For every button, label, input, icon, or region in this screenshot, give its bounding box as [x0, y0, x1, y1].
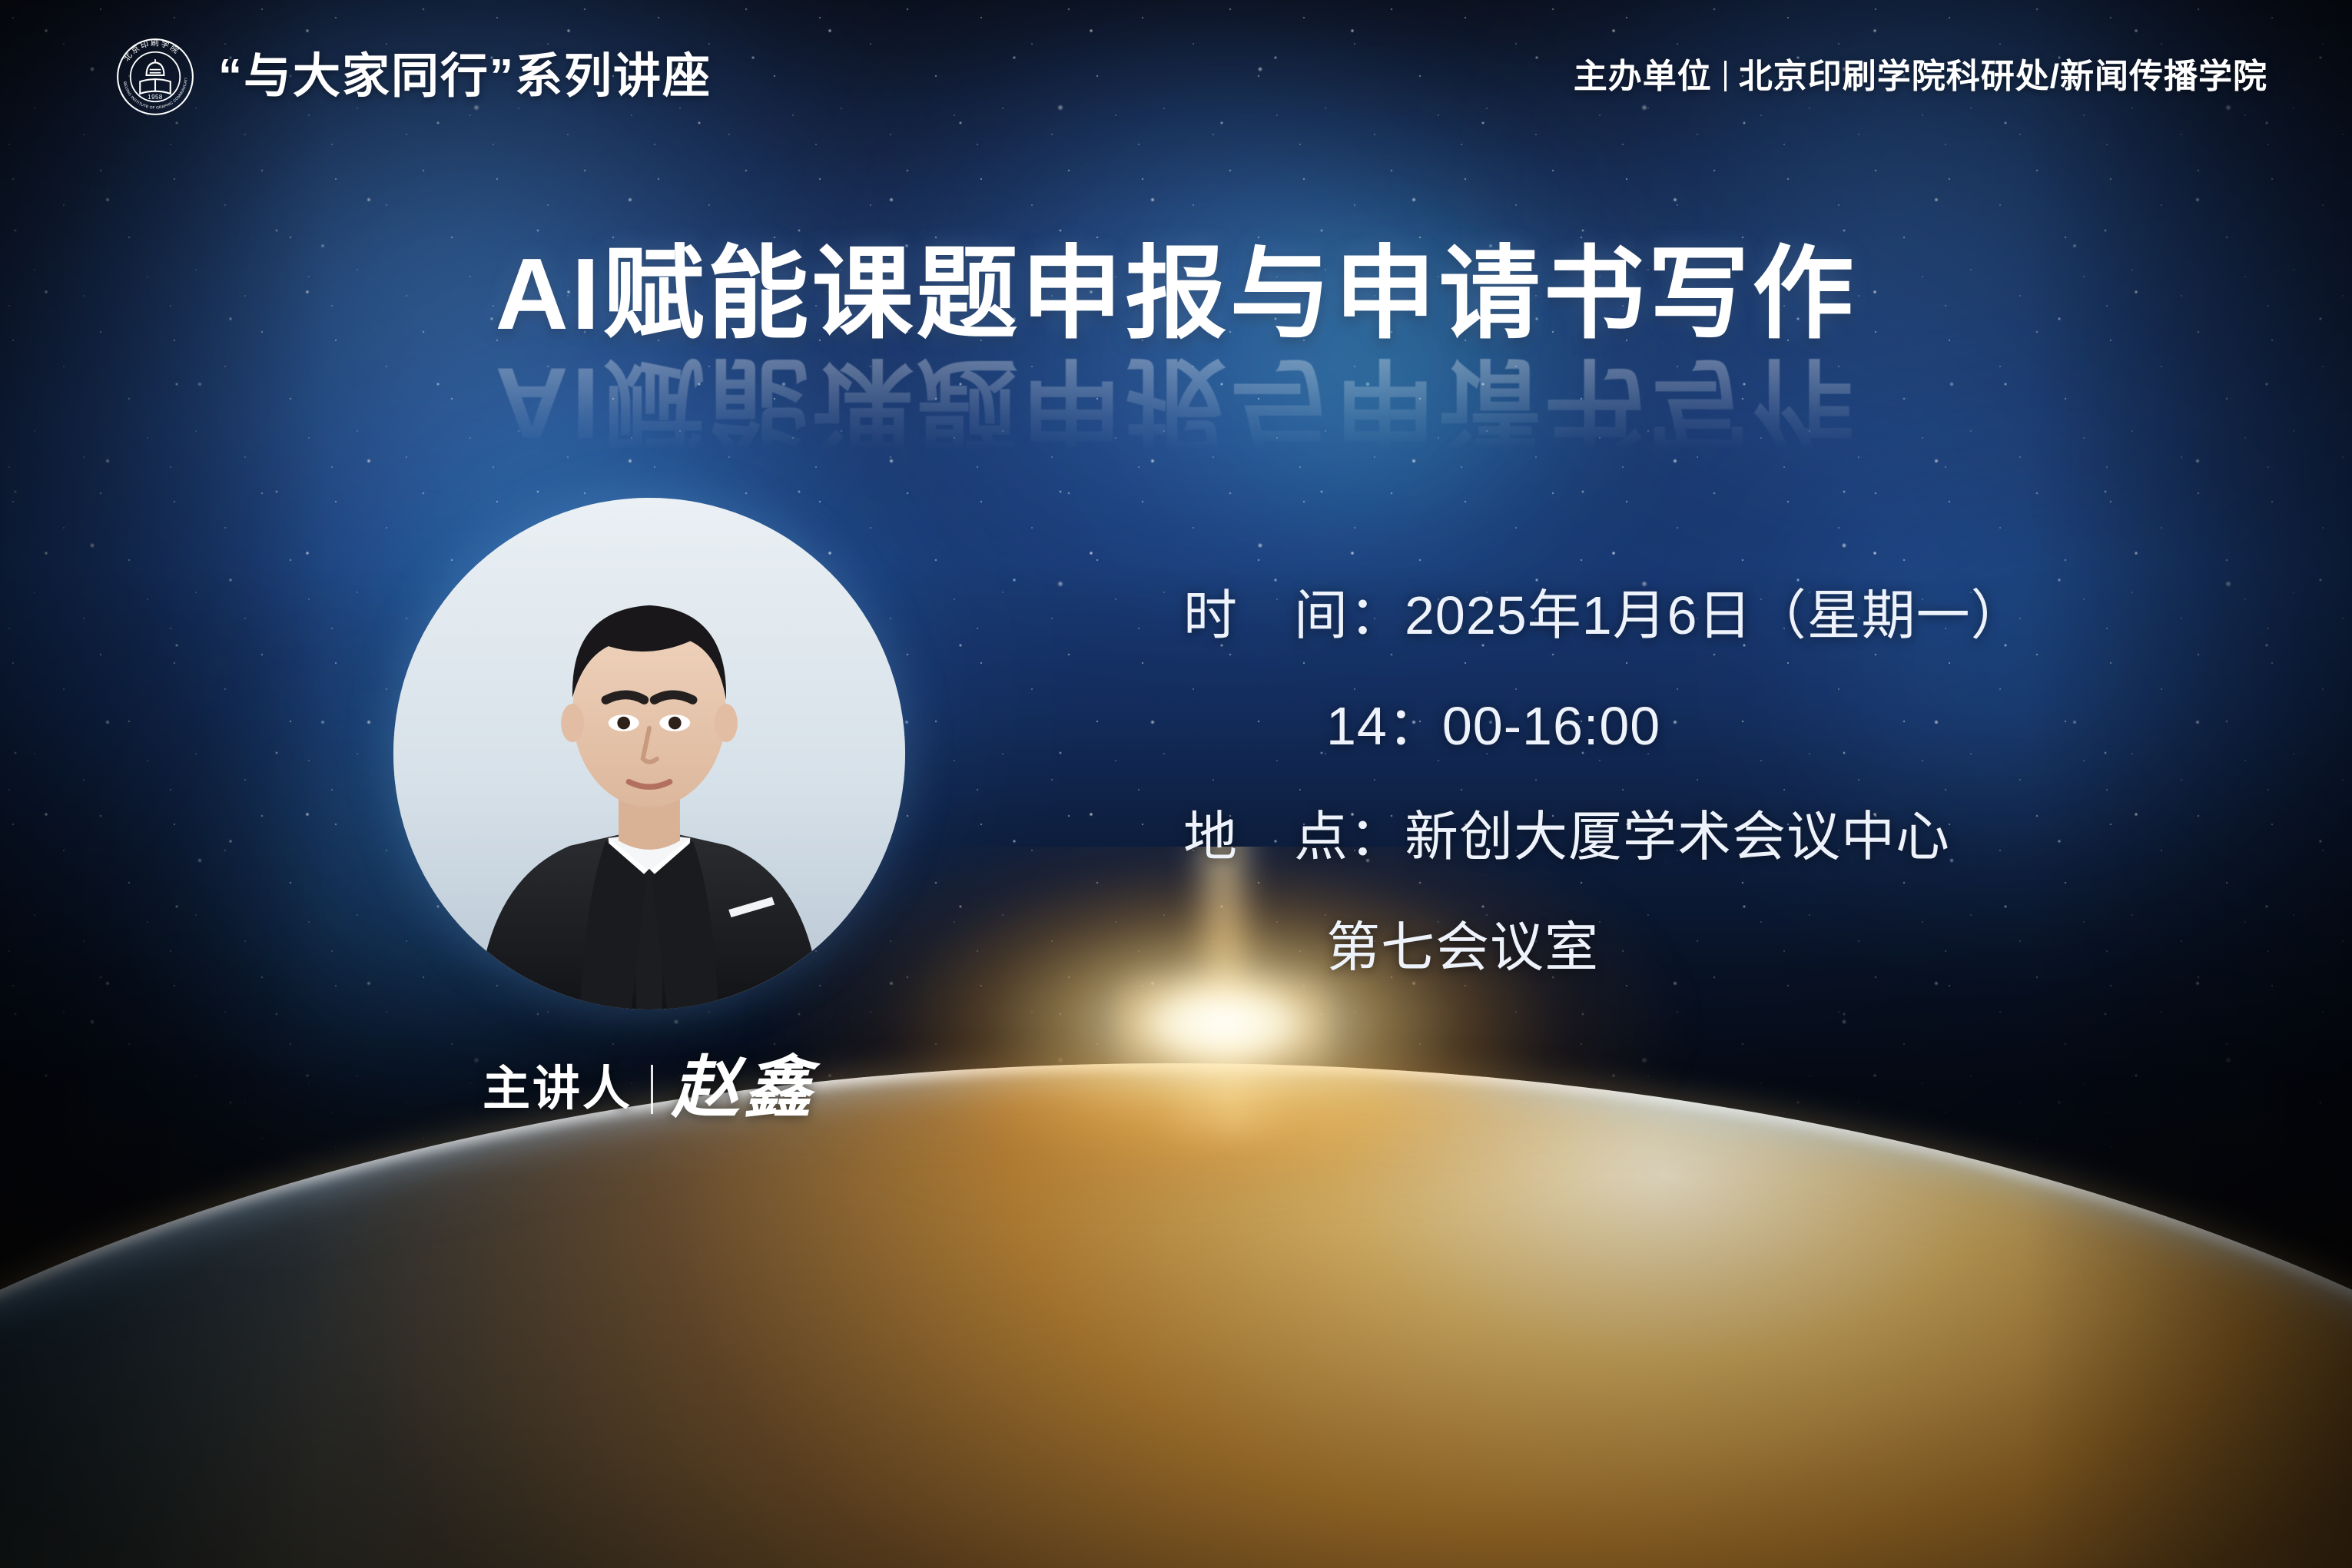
info-row-time-range: 14：00-16:00	[1183, 699, 2025, 753]
organizer-label: 主办单位	[1574, 58, 1712, 95]
organizer-line: 主办单位北京印刷学院科研处/新闻传播学院	[1574, 60, 2267, 94]
title-block: AI赋能课题申报与申请书写作 AI赋能课题申报与申请书写作	[0, 243, 2352, 454]
lecture-poster: 1958 北京印刷学院 BEIJING INSTITUTE OF GRAPHIC…	[0, 0, 2352, 1568]
brand-group: 1958 北京印刷学院 BEIJING INSTITUTE OF GRAPHIC…	[115, 37, 712, 117]
poster-content: 1958 北京印刷学院 BEIJING INSTITUTE OF GRAPHIC…	[0, 0, 2352, 1568]
time-label: 时 间：	[1183, 588, 1405, 642]
time-value: 2025年1月6日（星期一）	[1405, 588, 2025, 642]
svg-text:1958: 1958	[148, 94, 162, 101]
speaker-label: 主讲人	[483, 1066, 632, 1113]
page-title-reflection: AI赋能课题申报与申请书写作	[0, 351, 2352, 455]
info-row-place: 地 点： 新创大厦学术会议中心	[1183, 810, 2025, 864]
speaker-portrait	[393, 498, 905, 1009]
time-range-value: 14：00-16:00	[1326, 699, 1660, 753]
university-seal-icon: 1958 北京印刷学院 BEIJING INSTITUTE OF GRAPHIC…	[115, 37, 195, 117]
speaker-line: 主讲人 赵鑫	[393, 1056, 905, 1123]
place-value-2: 第七会议室	[1326, 920, 1599, 974]
poster-header: 1958 北京印刷学院 BEIJING INSTITUTE OF GRAPHIC…	[115, 37, 2267, 117]
place-value: 新创大厦学术会议中心	[1405, 810, 1950, 864]
place-label: 地 点：	[1183, 810, 1405, 864]
page-title: AI赋能课题申报与申请书写作	[0, 243, 2352, 346]
info-row-place-2: 第七会议室	[1183, 920, 2025, 974]
event-info: 时 间： 2025年1月6日（星期一） 14：00-16:00 地 点： 新创大…	[1183, 588, 2025, 974]
series-title: “与大家同行”系列讲座	[218, 53, 712, 101]
info-row-time: 时 间： 2025年1月6日（星期一）	[1183, 588, 2025, 642]
organizer-divider	[1724, 61, 1727, 91]
speaker-name: 赵鑫	[672, 1056, 816, 1123]
organizer-value: 北京印刷学院科研处/新闻传播学院	[1739, 58, 2267, 95]
speaker-divider	[651, 1065, 653, 1114]
